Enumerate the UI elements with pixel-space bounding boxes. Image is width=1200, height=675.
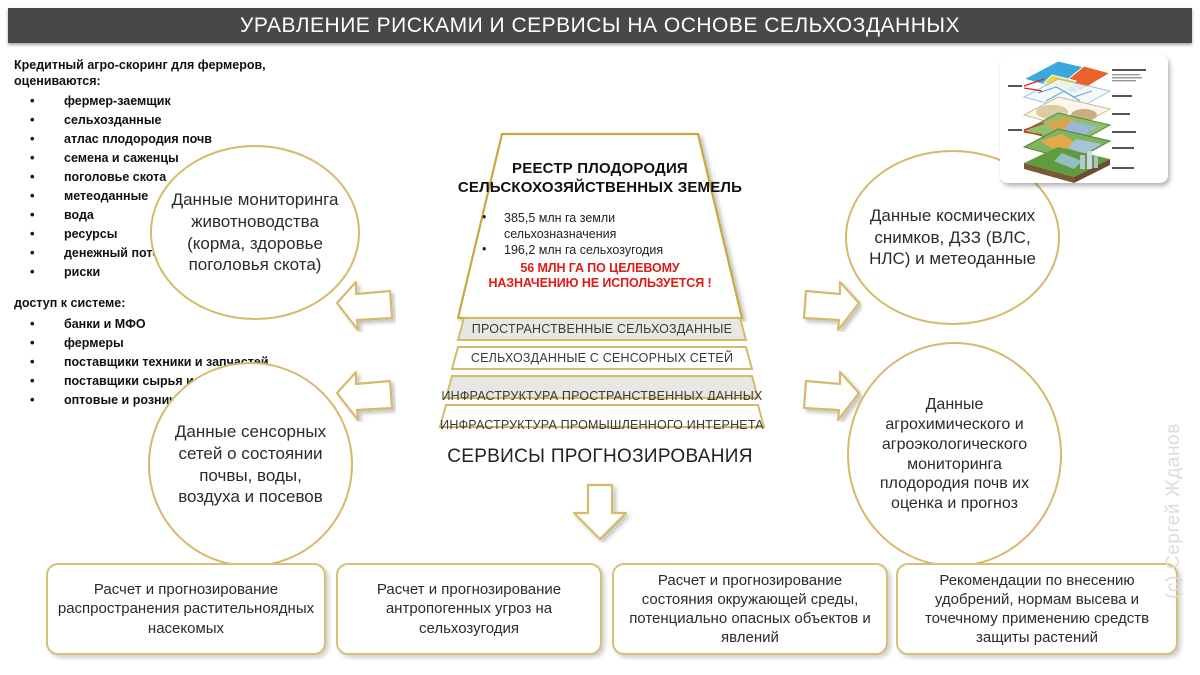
- down-arrow-icon: [560, 483, 640, 543]
- circle-label: Данные сенсорных сетей о состоянии почвы…: [150, 421, 351, 508]
- registry-title: РЕЕСТР ПЛОДОРОДИЯ СЕЛЬСКОХОЗЯЙСТВЕННЫХ З…: [458, 160, 742, 198]
- pyramid-layer-row: СЕЛЬХОЗДАННЫЕ С СЕНСОРНЫХ СЕТЕЙ: [382, 345, 822, 371]
- layer-label-text: ИНФРАСТРУКТУРА ПРОСТРАНСТВЕННЫХ ДАННЫХ: [382, 390, 822, 400]
- list-item: поставщики техники и запчастей: [14, 353, 344, 372]
- author-watermark: (с) Сергей Жданов: [1163, 423, 1185, 599]
- pyramid-layer-row: ИНФРАСТРУКТУРА ПРОСТРАНСТВЕННЫХ ДАННЫХ: [382, 374, 822, 400]
- forecast-services-row: Расчет и прогнозирование распространения…: [0, 563, 1200, 663]
- list-item: фермер-заемщик: [14, 92, 344, 111]
- service-box-fertilizer-recommendations: Рекомендации по внесению удобрений, норм…: [896, 563, 1178, 655]
- registry-title-line-2: СЕЛЬСКОХОЗЯЙСТВЕННЫХ ЗЕМЕЛЬ: [458, 179, 742, 198]
- list-item: сельхозданные: [14, 111, 344, 130]
- list-item: 385,5 млн га земли сельхозназначения: [470, 210, 730, 242]
- registry-text-block: РЕЕСТР ПЛОДОРОДИЯ СЕЛЬСКОХОЗЯЙСТВЕННЫХ З…: [390, 130, 810, 322]
- arrow-left-upper-icon: [334, 278, 396, 337]
- credit-scoring-heading: Кредитный агро-скоринг для фермеров, оце…: [14, 58, 344, 89]
- warning-line-1: 56 МЛН ГА ПО ЦЕЛЕВОМУ: [488, 261, 711, 276]
- pyramid-layer-row: ПРОСТРАНСТВЕННЫЕ СЕЛЬХОЗДАННЫЕ: [382, 316, 822, 342]
- services-label: СЕРВИСЫ ПРОГНОЗИРОВАНИЯ: [390, 446, 810, 468]
- slide-title-bar: УРАВЛЕНИЕ РИСКАМИ И СЕРВИСЫ НА ОСНОВЕ СЕ…: [8, 8, 1192, 43]
- circle-label: Данные мониторинга животноводства (корма…: [152, 189, 358, 276]
- service-box-anthropogenic-threats: Расчет и прогнозирование антропогенных у…: [336, 563, 602, 655]
- list-item: фермеры: [14, 334, 344, 353]
- pyramid-layer-row: ИНФРАСТРУКТУРА ПРОМЫШЛЕННОГО ИНТЕРНЕТА: [382, 403, 822, 429]
- circle-agrochemical-monitoring: Данные агрохимического и агроэкологическ…: [847, 342, 1062, 567]
- list-item: банки и МФО: [14, 315, 344, 334]
- service-box-label: Рекомендации по внесению удобрений, норм…: [906, 571, 1168, 648]
- circle-label: Данные агрохимического и агроэкологическ…: [849, 395, 1060, 514]
- page-title: УРАВЛЕНИЕ РИСКАМИ И СЕРВИСЫ НА ОСНОВЕ СЕ…: [240, 14, 960, 38]
- unused-land-warning: 56 МЛН ГА ПО ЦЕЛЕВОМУ НАЗНАЧЕНИЮ НЕ ИСПО…: [488, 261, 711, 291]
- service-box-label: Расчет и прогнозирование состояния окруж…: [622, 571, 878, 648]
- fertility-registry-pyramid: РЕЕСТР ПЛОДОРОДИЯ СЕЛЬСКОХОЗЯЙСТВЕННЫХ З…: [390, 130, 810, 430]
- arrow-left-lower-icon: [334, 368, 396, 427]
- circle-livestock-monitoring: Данные мониторинга животноводства (корма…: [150, 145, 360, 320]
- service-box-environment-state: Расчет и прогнозирование состояния окруж…: [612, 563, 888, 655]
- warning-line-2: НАЗНАЧЕНИЮ НЕ ИСПОЛЬЗУЕТСЯ !: [488, 276, 711, 291]
- arrow-right-upper-icon: [800, 278, 862, 337]
- layer-label: ИНФРАСТРУКТУРА ПРОСТРАНСТВЕННЫХ ДАННЫХ: [382, 374, 822, 400]
- registry-bullets: 385,5 млн га земли сельхозназначения 196…: [470, 210, 730, 258]
- service-box-label: Расчет и прогнозирование антропогенных у…: [346, 580, 592, 638]
- layer-label: СЕЛЬХОЗДАННЫЕ С СЕНСОРНЫХ СЕТЕЙ: [382, 345, 822, 371]
- service-box-pest-spread: Расчет и прогнозирование распространения…: [46, 563, 326, 655]
- circle-sensor-networks: Данные сенсорных сетей о состоянии почвы…: [148, 362, 353, 567]
- layer-label: ИНФРАСТРУКТУРА ПРОМЫШЛЕННОГО ИНТЕРНЕТА: [382, 403, 822, 429]
- circle-label: Данные космических снимков, ДЗЗ (ВЛС, НЛ…: [847, 205, 1058, 270]
- gis-layer-stack-image: [1000, 55, 1168, 183]
- service-box-label: Расчет и прогнозирование распространения…: [56, 580, 316, 638]
- list-item: атлас плодородия почв: [14, 130, 344, 149]
- layer-label-text: ИНФРАСТРУКТУРА ПРОМЫШЛЕННОГО ИНТЕРНЕТА: [382, 419, 822, 429]
- registry-title-line-1: РЕЕСТР ПЛОДОРОДИЯ: [458, 160, 742, 179]
- layer-label: ПРОСТРАНСТВЕННЫЕ СЕЛЬХОЗДАННЫЕ: [382, 316, 822, 342]
- list-item: 196,2 млн га сельхозугодия: [470, 242, 730, 258]
- slide-canvas: УРАВЛЕНИЕ РИСКАМИ И СЕРВИСЫ НА ОСНОВЕ СЕ…: [0, 0, 1200, 675]
- pyramid-layer-bars: ПРОСТРАНСТВЕННЫЕ СЕЛЬХОЗДАННЫЕ СЕЛЬХОЗДА…: [382, 316, 822, 432]
